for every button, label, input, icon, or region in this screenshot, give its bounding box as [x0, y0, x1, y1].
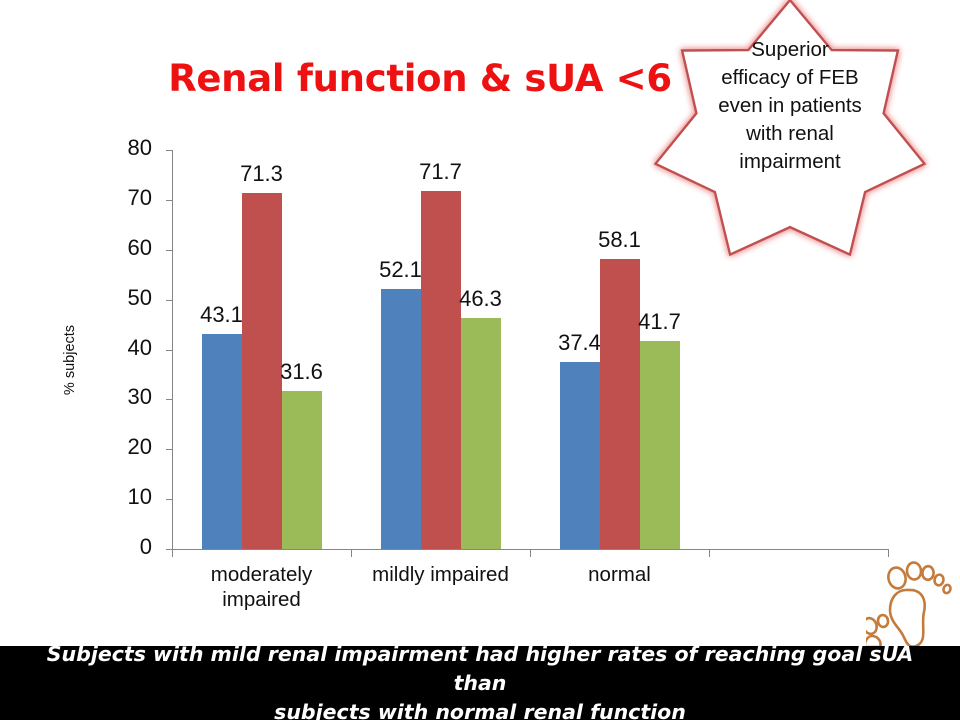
y-tick-mark: [166, 250, 173, 251]
star-callout: Superiorefficacy of FEBeven in patientsw…: [620, 0, 960, 274]
y-tick-label: 60: [100, 235, 152, 261]
caption-text: Subjects with mild renal impairment had …: [40, 640, 920, 720]
y-tick-label: 50: [100, 285, 152, 311]
y-tick-label: 80: [100, 135, 152, 161]
bar-value-label: 41.7: [620, 309, 700, 335]
y-tick-mark: [166, 449, 173, 450]
bar: [421, 191, 461, 549]
category-label: moderatelyimpaired: [172, 562, 351, 612]
y-tick-label: 70: [100, 185, 152, 211]
bar: [560, 362, 600, 549]
y-tick-mark: [166, 300, 173, 301]
y-tick-label: 20: [100, 434, 152, 460]
bar-value-label: 46.3: [441, 286, 521, 312]
bar: [282, 391, 322, 549]
caption-bar: Subjects with mild renal impairment had …: [0, 646, 960, 720]
category-label: normal: [530, 562, 709, 587]
x-tick-mark: [709, 549, 710, 557]
footprint-icon: [866, 556, 960, 648]
star-callout-line: even in patients: [668, 92, 912, 120]
bar: [600, 259, 640, 549]
bar: [202, 334, 242, 549]
star-callout-text: Superiorefficacy of FEBeven in patientsw…: [668, 36, 912, 176]
x-tick-mark: [530, 549, 531, 557]
y-axis-title: % subjects: [62, 300, 78, 420]
y-tick-mark: [166, 200, 173, 201]
bar-value-label: 71.3: [222, 161, 302, 187]
y-tick-mark: [166, 399, 173, 400]
category-label-line: impaired: [172, 587, 351, 612]
category-label: mildly impaired: [351, 562, 530, 587]
star-callout-line: with renal: [668, 120, 912, 148]
x-tick-mark: [351, 549, 352, 557]
bar: [461, 318, 501, 549]
y-tick-mark: [166, 150, 173, 151]
star-callout-line: efficacy of FEB: [668, 64, 912, 92]
y-tick-label: 30: [100, 384, 152, 410]
caption-line-2: subjects with normal renal function: [40, 698, 920, 720]
slide-canvas: Renal function & sUA <6 % subjects 01020…: [0, 0, 960, 720]
y-tick-mark: [166, 499, 173, 500]
star-callout-line: impairment: [668, 148, 912, 176]
category-label-line: normal: [530, 562, 709, 587]
x-tick-mark: [172, 549, 173, 557]
bar-value-label: 71.7: [401, 159, 481, 185]
category-label-line: mildly impaired: [351, 562, 530, 587]
y-tick-mark: [166, 350, 173, 351]
bar-value-label: 31.6: [262, 359, 342, 385]
caption-line-1: Subjects with mild renal impairment had …: [40, 640, 920, 698]
star-callout-line: Superior: [668, 36, 912, 64]
y-tick-label: 0: [100, 534, 152, 560]
y-tick-label: 40: [100, 335, 152, 361]
bar: [381, 289, 421, 549]
bar: [640, 341, 680, 549]
y-tick-label: 10: [100, 484, 152, 510]
category-label-line: moderately: [172, 562, 351, 587]
